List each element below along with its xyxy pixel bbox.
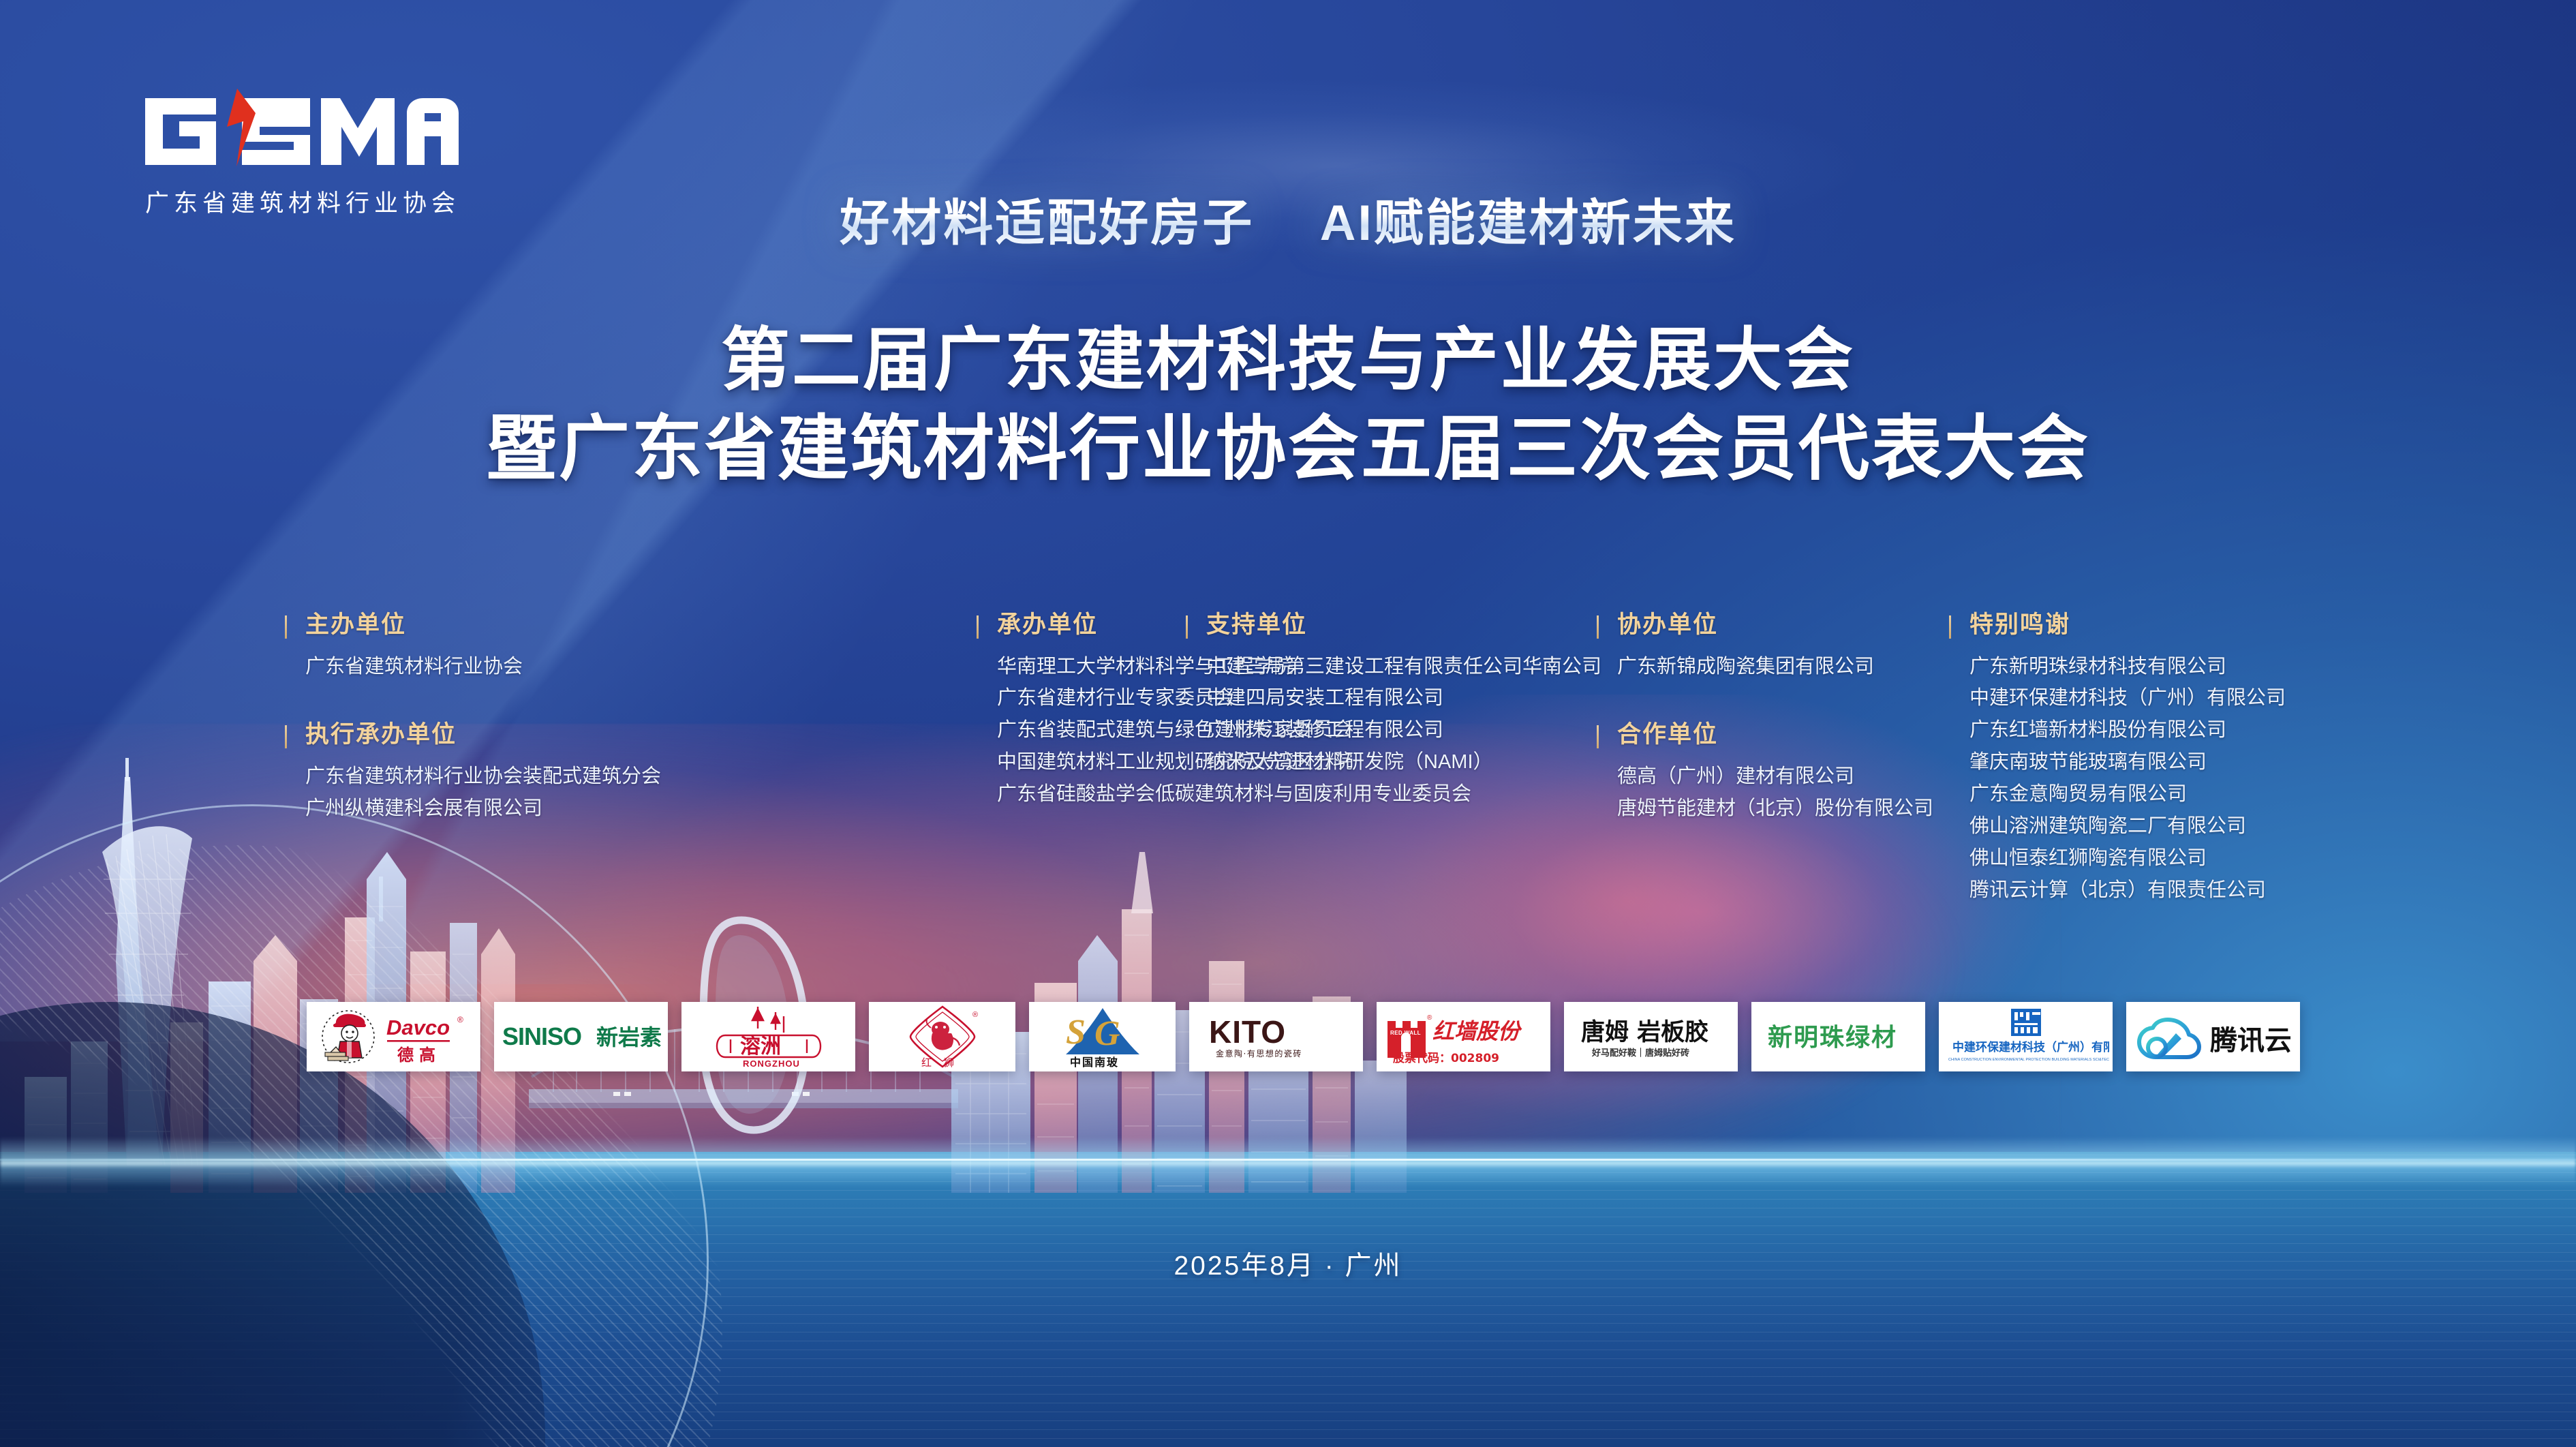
svg-text:G: G <box>1094 1014 1120 1053</box>
gold-bar-divider <box>1597 725 1599 748</box>
svg-text:新明珠绿材: 新明珠绿材 <box>1768 1024 1897 1052</box>
tagline-right: AI赋能建材新未来 <box>1320 196 1736 251</box>
svg-text:中国南玻: 中国南玻 <box>1070 1056 1119 1068</box>
kito-wordmark-icon: KITO 金意陶·有思想的瓷砖 <box>1205 1014 1348 1059</box>
siniso-wordmark-icon: SINISO 新岩素 <box>501 1020 662 1054</box>
sponsor-card-xinmingzhu: 新明珠绿材 <box>1751 1002 1925 1071</box>
list-item: 广东红墙新材料股份有限公司 <box>1969 714 2331 746</box>
sponsor-card-honglion: ® 红狮 <box>869 1002 1015 1071</box>
event-date-location: 2025年8月 · 广州 <box>0 1245 2576 1283</box>
gold-bar-divider <box>1949 615 1951 639</box>
svg-text:KITO: KITO <box>1209 1014 1286 1050</box>
list-item: 广州珠江装修工程有限公司 <box>1206 714 1601 746</box>
list-item: 广东新明珠绿材科技有限公司 <box>1969 651 2331 683</box>
cc-block-icon: 中建环保建材科技（广州）有限公司 CHINA CONSTRUCTION ENVI… <box>1943 1006 2109 1067</box>
worker-mascot-icon: Davco ® 德高 <box>316 1007 472 1066</box>
list-item: 唐姆节能建材（北京）股份有限公司 <box>1617 793 1931 825</box>
credit-block-supporter: 支持单位 中建三局第三建设工程有限责任公司华南公司 中建四局安装工程有限公司 广… <box>1186 612 1601 778</box>
list-item: 广东新锦成陶瓷集团有限公司 <box>1617 651 1931 683</box>
sponsor-card-zhongjian-huanbao: 中建环保建材科技（广州）有限公司 CHINA CONSTRUCTION ENVI… <box>1939 1002 2113 1071</box>
credit-block-host: 主办单位 广东省建筑材料行业协会 <box>285 612 666 682</box>
credit-list: 广东省建筑材料行业协会装配式建筑分会 广州纵横建科会展有限公司 <box>305 761 666 825</box>
sg-monogram-icon: S G 中国南玻 <box>1058 1005 1148 1068</box>
sponsor-card-csg-nanbo: S G 中国南玻 <box>1029 1002 1176 1071</box>
list-item: 广东省硅酸盐学会低碳建筑材料与固废利用专业委员会 <box>997 778 1467 810</box>
sponsor-card-siniso: SINISO 新岩素 <box>494 1002 668 1071</box>
list-item: 肇庆南玻节能玻璃有限公司 <box>1969 746 2331 778</box>
list-item: 广东金意陶贸易有限公司 <box>1969 778 2331 810</box>
credit-list: 广东新明珠绿材科技有限公司 中建环保建材科技（广州）有限公司 广东红墙新材料股份… <box>1969 651 2331 907</box>
svg-text:SINISO: SINISO <box>502 1022 581 1050</box>
svg-text:CHINA CONSTRUCTION ENVIRONMENT: CHINA CONSTRUCTION ENVIRONMENTAL PROTECT… <box>1948 1058 2109 1062</box>
credits-section: 主办单位 广东省建筑材料行业协会 执行承办单位 广东省建筑材料行业协会装配式建筑… <box>285 612 2329 898</box>
list-item: 佛山恒泰红狮陶瓷有限公司 <box>1969 842 2331 874</box>
tagline-left: 好材料适配好房子 <box>840 196 1254 251</box>
sponsor-card-davco-dege: Davco ® 德高 <box>307 1002 480 1071</box>
list-item: 佛山溶洲建筑陶瓷二厂有限公司 <box>1969 810 2331 842</box>
credit-block-special-thanks: 特别鸣谢 广东新明珠绿材科技有限公司 中建环保建材科技（广州）有限公司 广东红墙… <box>1949 612 2331 907</box>
svg-text:金意陶·有思想的瓷砖: 金意陶·有思想的瓷砖 <box>1216 1048 1302 1058</box>
svg-text:新岩素: 新岩素 <box>596 1024 662 1050</box>
list-item: 广东省建筑材料行业协会 <box>305 651 666 683</box>
page-title: 第二届广东建材科技与产业发展大会 暨广东省建筑材料行业协会五届三次会员代表大会 <box>0 322 2576 491</box>
sponsor-card-tangmu: 唐姆 岩板胶 好马配好鞍｜唐姆贴好砖 <box>1564 1002 1738 1071</box>
credit-heading: 协办单位 <box>1617 612 1931 639</box>
credit-heading: 主办单位 <box>305 612 666 639</box>
svg-text:S: S <box>1066 1013 1086 1052</box>
svg-text:唐姆 岩板胶: 唐姆 岩板胶 <box>1581 1018 1708 1046</box>
credit-heading: 特别鸣谢 <box>1969 612 2331 639</box>
credit-block-partner: 合作单位 德高（广州）建材有限公司 唐姆节能建材（北京）股份有限公司 <box>1597 722 1931 824</box>
credits-column-3: 支持单位 中建三局第三建设工程有限责任公司华南公司 中建四局安装工程有限公司 广… <box>1186 612 1601 778</box>
tangmu-wordmark-icon: 唐姆 岩板胶 好马配好鞍｜唐姆贴好砖 <box>1577 1013 1726 1061</box>
svg-text:Davco: Davco <box>386 1016 450 1039</box>
credit-heading-partner: 合作单位 <box>1617 722 1931 748</box>
credit-heading: 支持单位 <box>1206 612 1601 639</box>
gold-bar-divider <box>1186 615 1188 639</box>
conference-backdrop: 广东省建筑材料行业协会 好材料适配好房子 AI赋能建材新未来 第二届广东建材科技… <box>0 0 2576 1447</box>
credit-list: 德高（广州）建材有限公司 唐姆节能建材（北京）股份有限公司 <box>1617 761 1931 825</box>
svg-text:德高: 德高 <box>397 1046 441 1065</box>
svg-text:®: ® <box>972 1011 978 1019</box>
credit-block-executive-organizer: 执行承办单位 广东省建筑材料行业协会装配式建筑分会 广州纵横建科会展有限公司 <box>285 722 666 824</box>
horizon-glow <box>0 1137 2576 1187</box>
cloud-icon: 腾讯云 <box>2136 1014 2290 1059</box>
sponsor-card-kito: KITO 金意陶·有思想的瓷砖 <box>1189 1002 1363 1071</box>
svg-text:溶洲: 溶洲 <box>740 1035 781 1058</box>
svg-text:腾讯云: 腾讯云 <box>2210 1025 2290 1056</box>
svg-text:®: ® <box>457 1015 463 1024</box>
event-tagline: 好材料适配好房子 AI赋能建材新未来 <box>0 183 2576 255</box>
sponsor-logo-strip: Davco ® 德高 SINISO 新岩素 <box>307 1002 2300 1071</box>
gold-bar-divider <box>285 615 287 639</box>
list-item: 广东省建筑材料行业协会装配式建筑分会 <box>305 761 666 793</box>
lion-diamond-icon: ® 红狮 <box>891 1005 994 1069</box>
credit-list: 广东新锦成陶瓷集团有限公司 <box>1617 651 1931 683</box>
credit-heading: 执行承办单位 <box>305 722 666 748</box>
gbma-wordmark-icon <box>140 86 460 177</box>
list-item: 腾讯云计算（北京）有限责任公司 <box>1969 874 2331 907</box>
list-item: 中建环保建材科技（广州）有限公司 <box>1969 682 2331 714</box>
list-item: 德高（广州）建材有限公司 <box>1617 761 1931 793</box>
svg-text:RONGZHOU: RONGZHOU <box>743 1058 800 1068</box>
credit-list: 中建三局第三建设工程有限责任公司华南公司 中建四局安装工程有限公司 广州珠江装修… <box>1206 651 1601 779</box>
svg-text:股票代码：002809: 股票代码：002809 <box>1393 1051 1499 1063</box>
list-item: 广州纵横建科会展有限公司 <box>305 793 666 825</box>
svg-text:®: ® <box>1427 1014 1432 1022</box>
gold-bar-divider <box>285 725 287 748</box>
tower-emblem-icon: 溶洲 RONGZHOU <box>707 1005 830 1068</box>
page-title-line-1: 第二届广东建材科技与产业发展大会 <box>0 322 2576 400</box>
horizon-line <box>0 1159 2576 1161</box>
svg-text:好马配好鞍｜唐姆贴好砖: 好马配好鞍｜唐姆贴好砖 <box>1591 1048 1689 1058</box>
credit-block-co-organizer: 协办单位 广东新锦成陶瓷集团有限公司 <box>1597 612 1931 682</box>
gold-bar-divider <box>977 615 979 639</box>
xinmingzhu-wordmark-icon: 新明珠绿材 <box>1765 1021 1912 1052</box>
sponsor-card-rongzhou: 溶洲 RONGZHOU <box>681 1002 855 1071</box>
list-item: 中建四局安装工程有限公司 <box>1206 682 1601 714</box>
gold-bar-divider <box>1597 615 1599 639</box>
credits-column-1: 主办单位 广东省建筑材料行业协会 执行承办单位 广东省建筑材料行业协会装配式建筑… <box>285 612 666 825</box>
credit-list: 广东省建筑材料行业协会 <box>305 651 666 683</box>
svg-text:RED WALL: RED WALL <box>1390 1030 1421 1036</box>
credits-column-4: 协办单位 广东新锦成陶瓷集团有限公司 合作单位 德高（广州）建材有限公司 唐姆节… <box>1597 612 1931 825</box>
svg-text:中建环保建材科技（广州）有限公司: 中建环保建材科技（广州）有限公司 <box>1952 1040 2109 1054</box>
sponsor-card-tencent-cloud: 腾讯云 <box>2126 1002 2300 1071</box>
svg-text:红狮: 红狮 <box>921 1056 966 1069</box>
svg-text:红墙股份: 红墙股份 <box>1432 1018 1522 1044</box>
list-item: 中建三局第三建设工程有限责任公司华南公司 <box>1206 651 1601 683</box>
sponsor-card-hongqiang: RED WALL ® 红墙股份 股票代码：002809 <box>1377 1002 1550 1071</box>
list-item: 纳米及先进材料研发院（NAMI） <box>1206 746 1601 778</box>
credits-column-5: 特别鸣谢 广东新明珠绿材科技有限公司 中建环保建材科技（广州）有限公司 广东红墙… <box>1949 612 2331 907</box>
page-title-line-2: 暨广东省建筑材料行业协会五届三次会员代表大会 <box>0 408 2576 491</box>
castle-wall-icon: RED WALL ® 红墙股份 股票代码：002809 <box>1385 1010 1543 1063</box>
